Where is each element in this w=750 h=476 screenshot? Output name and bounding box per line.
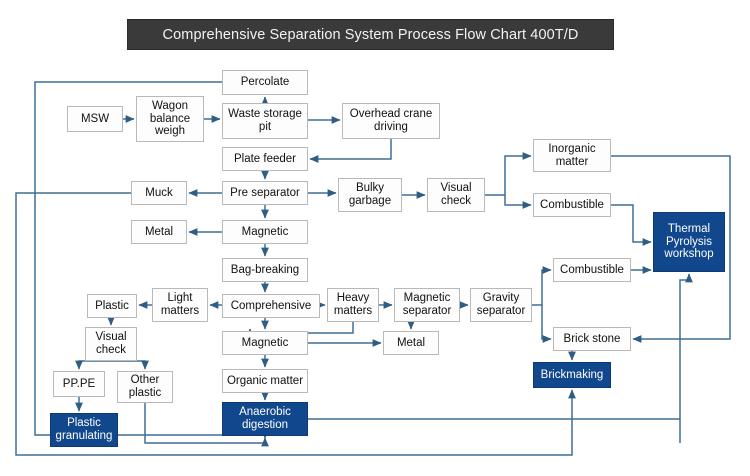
node-plate_feeder[interactable]: Plate feeder (222, 147, 308, 171)
node-label: Pre separator (230, 187, 300, 200)
node-mag_separator[interactable]: Magnetic separator (394, 288, 460, 322)
node-label: Percolate (241, 76, 290, 89)
node-label: Heavy matters (330, 292, 376, 318)
node-label: Anaerobic digestion (225, 406, 305, 432)
page-title: Comprehensive Separation System Process … (163, 27, 579, 43)
node-bag_breaking[interactable]: Bag-breaking (222, 258, 308, 282)
node-label: Magnetic (242, 226, 289, 239)
node-label: Metal (397, 337, 425, 350)
node-label: Visual check (88, 331, 134, 357)
node-label: Plastic (95, 300, 129, 313)
node-label: PP.PE (63, 378, 95, 391)
flowchart-canvas: Comprehensive Separation System Process … (0, 0, 750, 476)
node-heavy_matters[interactable]: Heavy matters (327, 288, 379, 322)
node-inorganic[interactable]: Inorganic matter (533, 139, 611, 172)
node-label: Wagon balance weigh (139, 100, 201, 139)
node-visual_check_2[interactable]: Visual check (85, 327, 137, 361)
node-combustible_2[interactable]: Combustible (553, 258, 631, 282)
node-label: Magnetic separator (397, 292, 457, 318)
node-label: Bulky garbage (341, 182, 399, 208)
node-combustible_1[interactable]: Combustible (533, 193, 611, 217)
node-label: Combustible (540, 199, 604, 212)
node-label: Waste storage pit (225, 108, 305, 134)
node-visual_check_1[interactable]: Visual check (427, 178, 485, 212)
node-other_plastic[interactable]: Other plastic (117, 371, 173, 403)
node-metal_2[interactable]: Metal (383, 331, 439, 355)
node-label: Muck (145, 187, 172, 200)
node-label: Metal (145, 226, 173, 239)
node-label: Magnetic (242, 337, 289, 350)
node-organic_matter[interactable]: Organic matter (222, 369, 308, 393)
node-label: Brickmaking (541, 369, 604, 382)
node-comprehensive[interactable]: Comprehensive (222, 294, 320, 318)
node-percolate[interactable]: Percolate (222, 70, 308, 95)
connector-layer (0, 0, 750, 476)
node-label: Other plastic (120, 374, 170, 400)
node-light_matters[interactable]: Light matters (152, 288, 208, 322)
node-label: Thermal Pyrolysis workshop (656, 223, 722, 262)
node-label: Bag-breaking (231, 264, 299, 277)
node-label: Brick stone (564, 333, 621, 346)
node-thermal[interactable]: Thermal Pyrolysis workshop (653, 212, 725, 272)
node-msw[interactable]: MSW (67, 106, 123, 132)
node-plastic[interactable]: Plastic (87, 294, 137, 318)
node-plastic_gran[interactable]: Plastic granulating (50, 413, 118, 447)
node-label: Organic matter (227, 375, 303, 388)
node-label: Plastic granulating (53, 417, 115, 443)
node-magnetic_2[interactable]: Magnetic (222, 331, 308, 355)
node-brickmaking[interactable]: Brickmaking (533, 362, 611, 388)
node-waste_pit[interactable]: Waste storage pit (222, 103, 308, 139)
node-label: Overhead crane driving (345, 108, 437, 134)
node-muck[interactable]: Muck (131, 181, 187, 205)
node-metal_1[interactable]: Metal (131, 220, 187, 244)
chart-title-bar: Comprehensive Separation System Process … (127, 19, 614, 50)
node-grav_separator[interactable]: Gravity separator (470, 288, 532, 322)
node-pre_separator[interactable]: Pre separator (222, 181, 308, 205)
node-bulky[interactable]: Bulky garbage (338, 178, 402, 212)
node-magnetic_1[interactable]: Magnetic (222, 220, 308, 244)
node-label: Visual check (430, 182, 482, 208)
node-crane[interactable]: Overhead crane driving (342, 103, 440, 139)
node-pp_pe[interactable]: PP.PE (53, 371, 105, 397)
node-label: Gravity separator (473, 292, 529, 318)
node-label: Inorganic matter (536, 143, 608, 169)
node-label: Comprehensive (231, 300, 312, 313)
node-label: MSW (81, 113, 109, 126)
node-brick_stone[interactable]: Brick stone (553, 327, 631, 351)
node-anaerobic[interactable]: Anaerobic digestion (222, 402, 308, 436)
node-label: Plate feeder (234, 153, 296, 166)
node-label: Light matters (155, 292, 205, 318)
node-label: Combustible (560, 264, 624, 277)
node-wagon[interactable]: Wagon balance weigh (136, 96, 204, 142)
